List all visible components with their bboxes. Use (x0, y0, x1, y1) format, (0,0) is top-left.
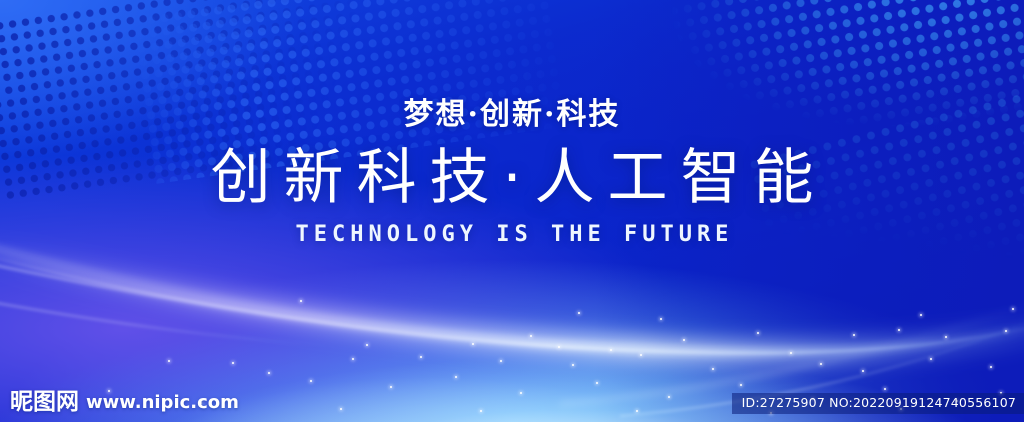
subtitle-chinese: 梦想·创新·科技 (0, 100, 1024, 130)
nipic-logo: 昵图网 (10, 391, 79, 414)
headline-group: 梦想·创新·科技 创新科技·人工智能 TECHNOLOGY IS THE FUT… (0, 100, 1024, 246)
poster-canvas: 梦想·创新·科技 创新科技·人工智能 TECHNOLOGY IS THE FUT… (0, 0, 1024, 422)
status-badge: ID:27275907 NO:20220919124740556107 (732, 393, 1024, 415)
tagline-english: TECHNOLOGY IS THE FUTURE (0, 224, 1024, 246)
watermark-url: www.nipic.com (86, 394, 239, 412)
watermark: 昵图网 www.nipic.com (10, 391, 239, 414)
page-title: 创新科技·人工智能 (0, 148, 1024, 208)
